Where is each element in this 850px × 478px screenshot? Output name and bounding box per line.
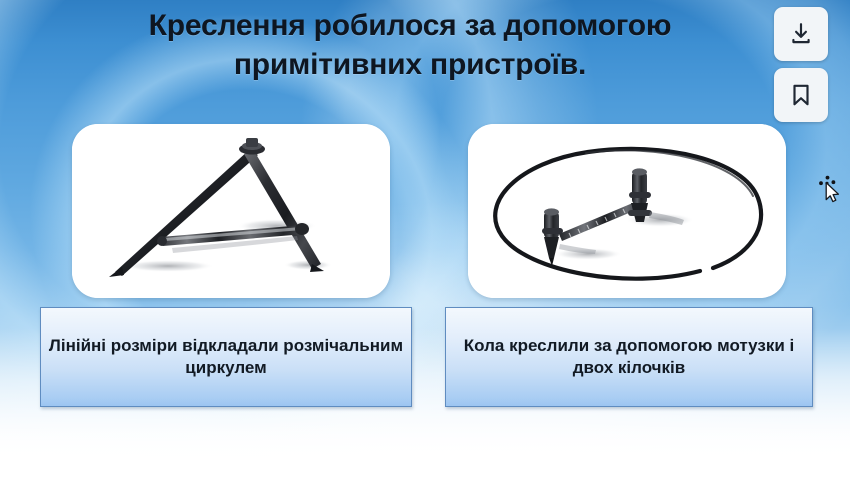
bookmark-button[interactable] — [774, 68, 828, 122]
slide-title-line-1: Креслення робилося за допомогою — [40, 6, 780, 45]
rope-and-stakes-illustration — [468, 124, 786, 298]
image-card-right[interactable] — [468, 124, 786, 298]
bookmark-icon — [788, 82, 814, 108]
slide-title: Креслення робилося за допомогою примітив… — [40, 6, 780, 84]
marking-compass-illustration — [72, 124, 390, 298]
caption-text-left: Лінійні розміри відкладали розмічальним … — [47, 335, 405, 379]
slide-viewer: Креслення робилося за допомогою примітив… — [0, 0, 850, 478]
caption-box-right: Кола креслили за допомогою мотузки і дво… — [445, 307, 813, 407]
download-button[interactable] — [774, 7, 828, 61]
download-icon — [788, 21, 814, 47]
slide-title-line-2: примітивних пристроїв. — [40, 45, 780, 84]
image-card-left[interactable] — [72, 124, 390, 298]
caption-box-left: Лінійні розміри відкладали розмічальним … — [40, 307, 412, 407]
caption-text-right: Кола креслили за допомогою мотузки і дво… — [452, 335, 806, 379]
